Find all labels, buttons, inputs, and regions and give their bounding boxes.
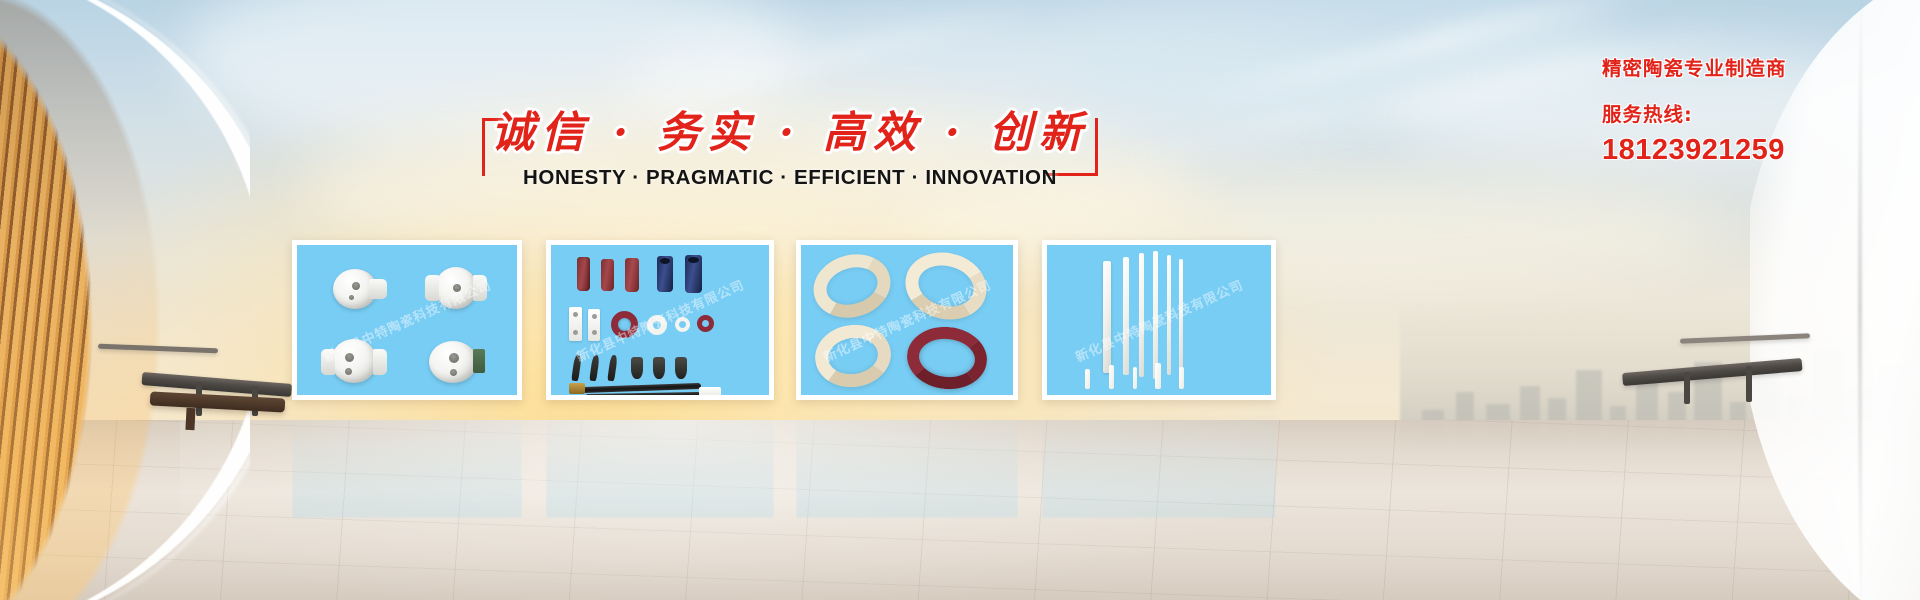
ceramic-rod xyxy=(1167,255,1171,375)
ceramic-ring xyxy=(675,317,690,332)
ceramic-rod-short xyxy=(1179,367,1184,389)
cap-lug xyxy=(321,349,335,375)
ceramic-cap xyxy=(429,341,477,383)
bench-leg xyxy=(185,408,195,430)
cable-connector xyxy=(569,383,585,394)
ceramic-tip xyxy=(571,355,582,382)
product-panel-3-image: 新化县中特陶瓷科技有限公司 xyxy=(801,245,1013,395)
hotline-label: 服务热线: xyxy=(1602,98,1832,127)
cable-assembly xyxy=(585,392,701,395)
ceramic-rod xyxy=(1179,259,1183,371)
ceramic-ring-large xyxy=(806,245,898,326)
floor-sheen xyxy=(180,420,1280,600)
railing-post xyxy=(1746,366,1752,402)
hero-banner: 诚信 · 务实 · 高效 · 创新 HONESTY · PRAGMATIC · … xyxy=(0,0,1920,600)
slogan-english: HONESTY · PRAGMATIC · EFFICIENT · INNOVA… xyxy=(470,166,1110,190)
ceramic-tip xyxy=(653,357,665,379)
white-curved-rim-outer xyxy=(0,0,250,600)
slogan-chinese: 诚信 · 务实 · 高效 · 创新 xyxy=(470,98,1110,160)
product-panel-3[interactable]: 新化县中特陶瓷科技有限公司 xyxy=(796,240,1018,400)
ceramic-ring xyxy=(647,315,667,335)
railing-post xyxy=(1684,372,1690,404)
ceramic-tube xyxy=(685,255,702,293)
product-gallery: 新化县中特陶瓷科技有限公司 xyxy=(292,240,1276,408)
ceramic-tip xyxy=(675,357,687,379)
ceramic-plate xyxy=(588,309,600,341)
watermark-text: 新化县中特陶瓷科技有限公司 xyxy=(1072,274,1246,365)
headline-block: 诚信 · 务实 · 高效 · 创新 HONESTY · PRAGMATIC · … xyxy=(470,104,1110,204)
cable-terminal xyxy=(699,387,721,395)
contact-block: 精密陶瓷专业制造商 服务热线: 18123921259 xyxy=(1602,52,1832,167)
cloud-streak xyxy=(644,0,1056,113)
left-architecture xyxy=(0,0,250,600)
ceramic-tube xyxy=(577,257,590,291)
ceramic-tube xyxy=(657,256,673,292)
ceramic-ring-large xyxy=(898,245,994,328)
hotline-phone-number: 18123921259 xyxy=(1602,134,1832,167)
cap-lug xyxy=(473,275,487,301)
cap-lug xyxy=(373,349,387,375)
ceramic-tip xyxy=(589,355,600,382)
panel-edge-line xyxy=(1858,0,1862,600)
ceramic-rod-short xyxy=(1133,367,1137,389)
product-panel-2[interactable]: 新化县中特陶瓷科技有限公司 xyxy=(546,240,774,400)
ceramic-rod-short xyxy=(1109,365,1114,389)
ceramic-rod-short xyxy=(1155,363,1161,389)
cap-contact xyxy=(473,349,485,373)
ceramic-rod xyxy=(1139,253,1144,377)
ceramic-rod xyxy=(1103,261,1111,373)
cap-lug xyxy=(425,275,439,301)
cloud xyxy=(1060,0,1620,140)
cap-lug xyxy=(369,279,387,299)
ceramic-tip xyxy=(607,355,618,382)
reflective-floor xyxy=(0,420,1920,600)
ceramic-tube xyxy=(601,259,614,291)
ceramic-cap xyxy=(331,339,377,383)
company-tagline: 精密陶瓷专业制造商 xyxy=(1602,52,1832,81)
ceramic-ring-large-red xyxy=(904,323,990,393)
ceramic-rod xyxy=(1123,257,1129,375)
product-panel-1-image: 新化县中特陶瓷科技有限公司 xyxy=(297,245,517,395)
ceramic-cap xyxy=(435,267,477,309)
ceramic-ring-large xyxy=(811,320,895,392)
ceramic-rod-short xyxy=(1085,369,1090,389)
product-panel-4[interactable]: 新化县中特陶瓷科技有限公司 xyxy=(1042,240,1276,400)
cloud-streak xyxy=(1104,64,1495,173)
product-panel-1[interactable]: 新化县中特陶瓷科技有限公司 xyxy=(292,240,522,400)
ceramic-ring xyxy=(611,311,638,338)
ceramic-tip xyxy=(631,357,643,379)
ceramic-rod xyxy=(1153,251,1158,379)
product-panel-2-image: 新化县中特陶瓷科技有限公司 xyxy=(551,245,769,395)
product-panel-4-image: 新化县中特陶瓷科技有限公司 xyxy=(1047,245,1271,395)
ceramic-tube xyxy=(625,258,639,292)
ceramic-ring xyxy=(697,315,714,332)
ceramic-plate xyxy=(569,307,582,341)
